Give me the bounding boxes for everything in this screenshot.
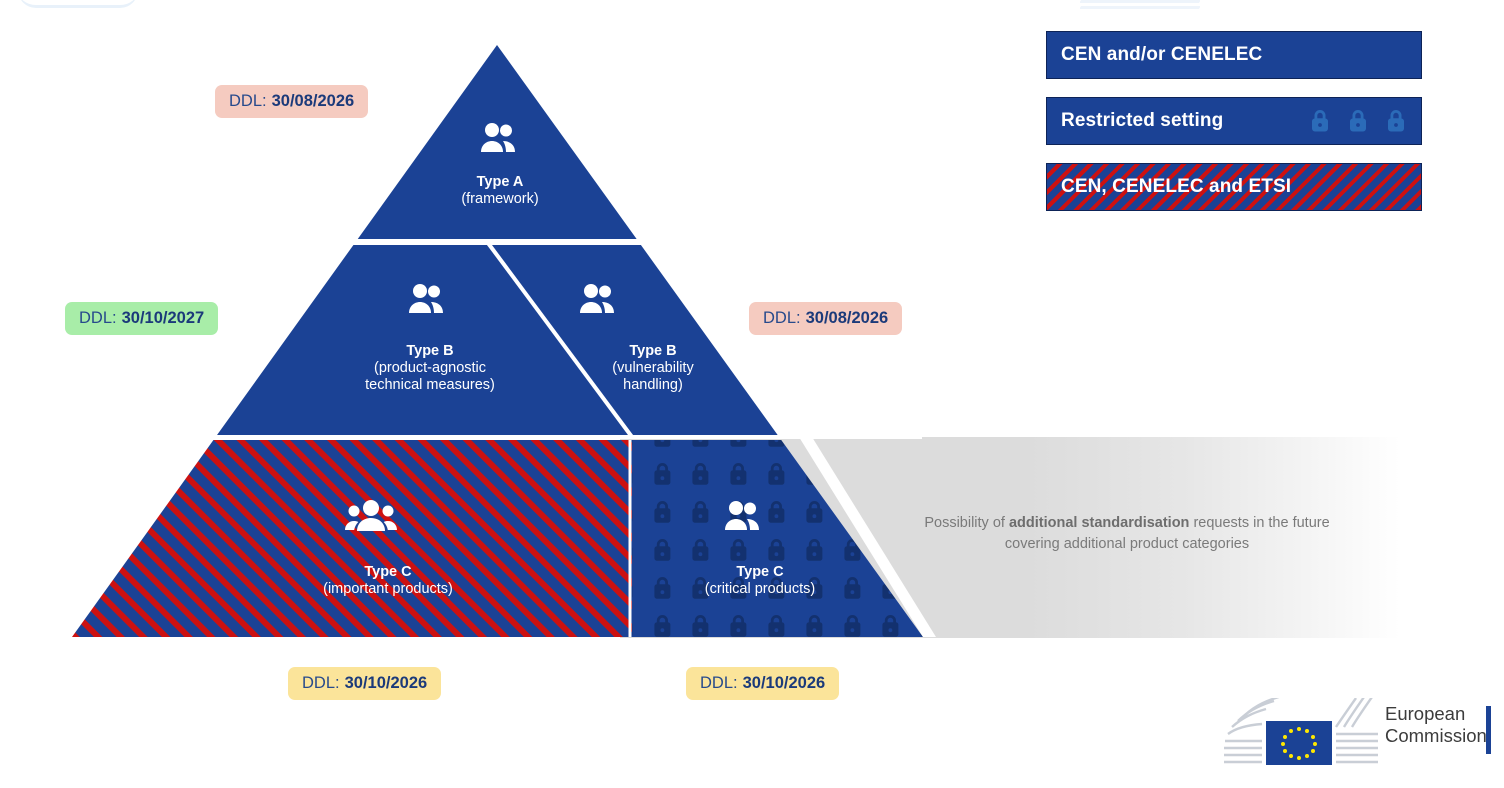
lock-icon	[1385, 108, 1407, 134]
organisation-line-2: Commission	[1385, 725, 1487, 747]
deadline-label: DDL:	[763, 310, 801, 327]
legend-item-cen-cenelec-etsi: CEN, CENELEC and ETSI	[1046, 163, 1422, 211]
deadline-label: DDL:	[700, 675, 738, 692]
logo-swoosh-right	[1336, 698, 1378, 762]
tier-type-c-critical	[632, 440, 932, 640]
deadline-badge-type-b-product-agnostic: DDL: 30/10/2027	[65, 302, 218, 335]
deadline-date: 30/10/2026	[743, 675, 826, 692]
deadline-label: DDL:	[79, 310, 117, 327]
legend-item-restricted-setting: Restricted setting	[1046, 97, 1422, 145]
tier-type-a	[60, 40, 940, 239]
legend-label: CEN and/or CENELEC	[1061, 44, 1262, 66]
deadline-label: DDL:	[229, 93, 267, 110]
lock-icon	[1347, 108, 1369, 134]
legend-item-cen-cenelec: CEN and/or CENELEC	[1046, 31, 1422, 79]
european-commission-wordmark: European Commission	[1385, 703, 1487, 747]
deadline-badge-type-c-critical: DDL: 30/10/2026	[686, 667, 839, 700]
deadline-label: DDL:	[302, 675, 340, 692]
deadline-badge-type-b-vulnerability: DDL: 30/08/2026	[749, 302, 902, 335]
deadline-date: 30/08/2026	[272, 93, 355, 110]
deadline-date: 30/10/2027	[122, 310, 205, 327]
slide-canvas: Possibility of additional standardisatio…	[0, 0, 1504, 788]
legend-label: Restricted setting	[1061, 110, 1223, 132]
tier-type-b-band	[60, 245, 940, 435]
lock-icon	[1309, 108, 1331, 134]
deadline-badge-type-a: DDL: 30/08/2026	[215, 85, 368, 118]
organisation-line-1: European	[1385, 703, 1487, 725]
deadline-date: 30/10/2026	[345, 675, 428, 692]
deadline-badge-type-c-important: DDL: 30/10/2026	[288, 667, 441, 700]
legend-label: CEN, CENELEC and ETSI	[1061, 176, 1291, 198]
logo-accent-bar	[1486, 706, 1491, 754]
legend-lock-group	[1309, 108, 1407, 134]
legend: CEN and/or CENELEC Restricted setting	[1046, 31, 1422, 229]
tier-type-c-important	[60, 440, 632, 640]
deadline-date: 30/08/2026	[806, 310, 889, 327]
